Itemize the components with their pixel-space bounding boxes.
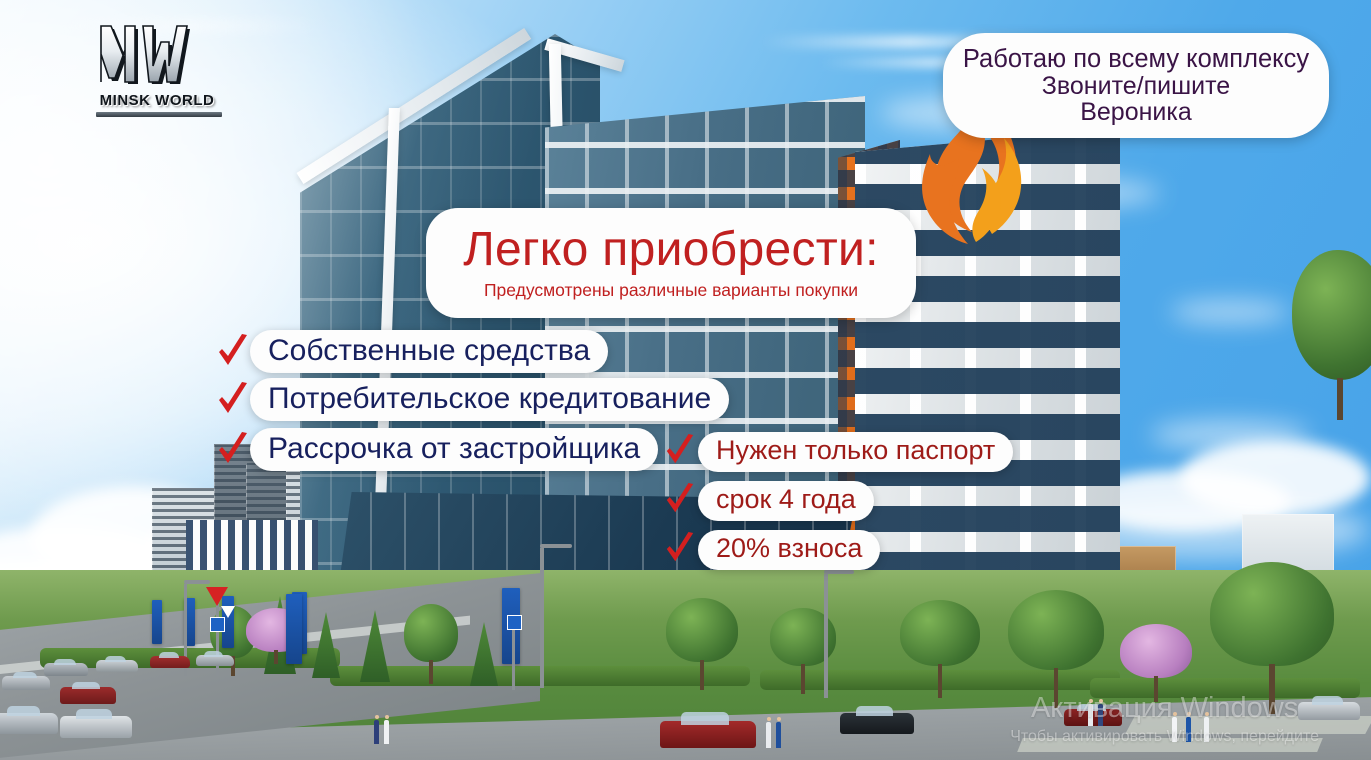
contact-line-2: Звоните/пишите	[1042, 73, 1230, 99]
check-icon	[664, 432, 698, 472]
list-item-term-0[interactable]: Нужен только паспорт	[664, 432, 1013, 472]
contact-bubble[interactable]: Работаю по всему комплексу Звоните/пишит…	[943, 33, 1329, 138]
check-icon	[216, 380, 250, 420]
check-icon	[664, 481, 698, 521]
lamp-post-mid	[540, 548, 544, 688]
logo-wordmark: MINSK WORLD	[90, 92, 224, 109]
list-item-term-1[interactable]: срок 4 года	[664, 481, 874, 521]
check-icon	[216, 430, 250, 470]
list-item-label: Рассрочка от застройщика	[250, 428, 658, 471]
list-item-payment-2[interactable]: Рассрочка от застройщика	[216, 428, 658, 471]
logo-underline	[96, 112, 222, 117]
yield-sign	[206, 587, 228, 606]
headline-card: Легко приобрести: Предусмотрены различны…	[426, 208, 916, 318]
lamp-post-right	[824, 574, 828, 698]
list-item-label: срок 4 года	[698, 481, 874, 521]
contact-line-3: Вероника	[1080, 99, 1192, 125]
page-title: Легко приобрести:	[463, 226, 879, 274]
list-item-payment-0[interactable]: Собственные средства	[216, 330, 608, 373]
list-item-label: Нужен только паспорт	[698, 432, 1013, 472]
sign-post-2	[512, 620, 515, 690]
pedestrian-sign	[210, 617, 225, 632]
mw-monogram-icon	[92, 18, 222, 84]
contact-line-1: Работаю по всему комплексу	[963, 46, 1309, 73]
check-icon	[664, 530, 698, 570]
minsk-world-logo: MINSK WORLD	[92, 18, 222, 118]
list-item-label: Собственные средства	[250, 330, 608, 373]
list-item-payment-1[interactable]: Потребительское кредитование	[216, 378, 729, 421]
list-item-term-2[interactable]: 20% взноса	[664, 530, 880, 570]
list-item-label: Потребительское кредитование	[250, 378, 729, 421]
pedestrian-sign-2	[507, 615, 522, 630]
list-item-label: 20% взноса	[698, 530, 880, 570]
check-icon	[216, 332, 250, 372]
page-subtitle: Предусмотрены различные варианты покупки	[484, 280, 858, 301]
promo-banner: MINSK WORLD Работаю по всему комплексу З…	[0, 0, 1371, 760]
